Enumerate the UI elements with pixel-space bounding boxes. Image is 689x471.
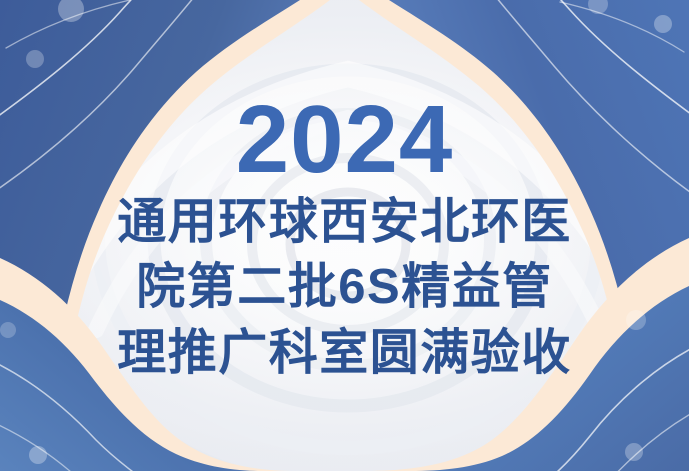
dot-bottom-left-1: [29, 446, 47, 464]
headline-line-1: 通用环球西安北环医: [0, 190, 689, 255]
headline-line-2: 院第二批6S精益管: [0, 255, 689, 320]
year-title: 2024: [0, 96, 689, 184]
dot-bottom-right-2: [625, 443, 643, 461]
dot-top-right-2: [654, 15, 672, 33]
dot-top-left-2: [26, 50, 44, 68]
headline-block: 2024 通用环球西安北环医 院第二批6S精益管 理推广科室圆满验收: [0, 96, 689, 386]
poster-canvas: 2024 通用环球西安北环医 院第二批6S精益管 理推广科室圆满验收: [0, 0, 689, 471]
headline-line-3: 理推广科室圆满验收: [0, 321, 689, 386]
